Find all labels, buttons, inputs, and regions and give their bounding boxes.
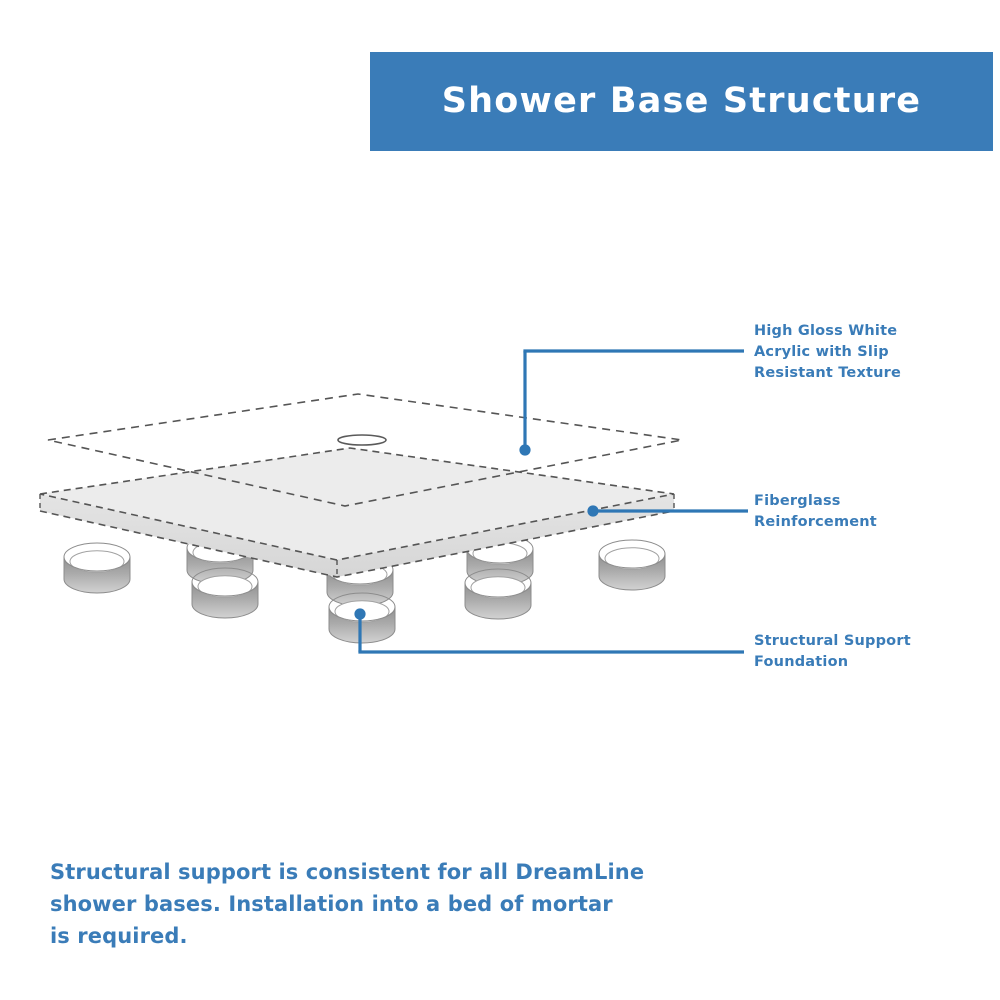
slab-bottom-outline xyxy=(40,511,674,577)
slab-left-side xyxy=(40,494,337,577)
slab-right-side xyxy=(337,494,674,577)
ring-wall xyxy=(187,548,253,584)
ring-wall xyxy=(192,582,258,618)
callout-support-line-1: Structural Support xyxy=(754,631,911,652)
slab-top-face xyxy=(40,448,674,560)
ring-inner-hole xyxy=(471,577,525,599)
acrylic-top-panel xyxy=(48,394,682,506)
callout-label-acrylic: High Gloss White Acrylic with Slip Resis… xyxy=(754,321,901,384)
support-ring-3 xyxy=(192,568,258,618)
ring-inner-hole xyxy=(333,564,387,586)
support-ring-2 xyxy=(187,534,253,584)
ring-inner-hole xyxy=(198,576,252,598)
caption-line-2: shower bases. Installation into a bed of… xyxy=(50,889,690,921)
callout-fiberglass-line-1: Fiberglass xyxy=(754,491,877,512)
callout-fiberglass-line-2: Reinforcement xyxy=(754,512,877,533)
ring-top-rim xyxy=(64,543,130,571)
ring-inner-hole xyxy=(70,551,124,573)
ring-wall xyxy=(465,583,531,619)
support-ring-1 xyxy=(64,543,130,593)
caption-line-1: Structural support is consistent for all… xyxy=(50,857,690,889)
page-title: Shower Base Structure xyxy=(442,84,921,119)
ring-inner-hole xyxy=(193,542,247,564)
support-ring-5 xyxy=(329,593,395,643)
callout-label-fiberglass: Fiberglass Reinforcement xyxy=(754,491,877,533)
drain-opening xyxy=(338,435,386,445)
title-banner: Shower Base Structure xyxy=(370,52,993,151)
ring-inner-hole xyxy=(473,543,527,565)
ring-wall xyxy=(329,607,395,643)
fiberglass-reinforcement-slab xyxy=(40,448,674,577)
ring-wall xyxy=(64,557,130,593)
support-ring-4 xyxy=(327,556,393,606)
slab-top-outline xyxy=(40,448,674,560)
ring-top-rim xyxy=(327,556,393,584)
leader-acrylic-dot xyxy=(519,444,530,455)
leader-support-dot xyxy=(354,608,365,619)
support-ring-7 xyxy=(465,569,531,619)
ring-inner-hole xyxy=(605,548,659,570)
ring-wall xyxy=(467,549,533,585)
support-rings-group xyxy=(64,534,665,643)
ring-top-rim xyxy=(187,534,253,562)
callout-acrylic-line-3: Resistant Texture xyxy=(754,363,901,384)
ring-top-rim xyxy=(329,593,395,621)
callout-support-line-2: Foundation xyxy=(754,652,911,673)
support-ring-8 xyxy=(599,540,665,590)
caption-line-3: is required. xyxy=(50,921,690,953)
ring-top-rim xyxy=(192,568,258,596)
callout-acrylic-line-2: Acrylic with Slip xyxy=(754,342,901,363)
callout-acrylic-line-1: High Gloss White xyxy=(754,321,901,342)
acrylic-panel-outline xyxy=(48,394,682,506)
leader-fiberglass-dot xyxy=(587,505,598,516)
ring-inner-hole xyxy=(335,601,389,623)
ring-top-rim xyxy=(467,535,533,563)
callout-label-structural-support: Structural Support Foundation xyxy=(754,631,911,673)
ring-wall xyxy=(599,554,665,590)
ring-wall xyxy=(327,570,393,606)
footer-caption: Structural support is consistent for all… xyxy=(50,857,690,953)
ring-top-rim xyxy=(465,569,531,597)
support-ring-6 xyxy=(467,535,533,585)
callout-leader-lines xyxy=(354,351,748,652)
ring-top-rim xyxy=(599,540,665,568)
diagram-canvas: Shower Base Structure High Gloss White A… xyxy=(0,0,1000,1000)
